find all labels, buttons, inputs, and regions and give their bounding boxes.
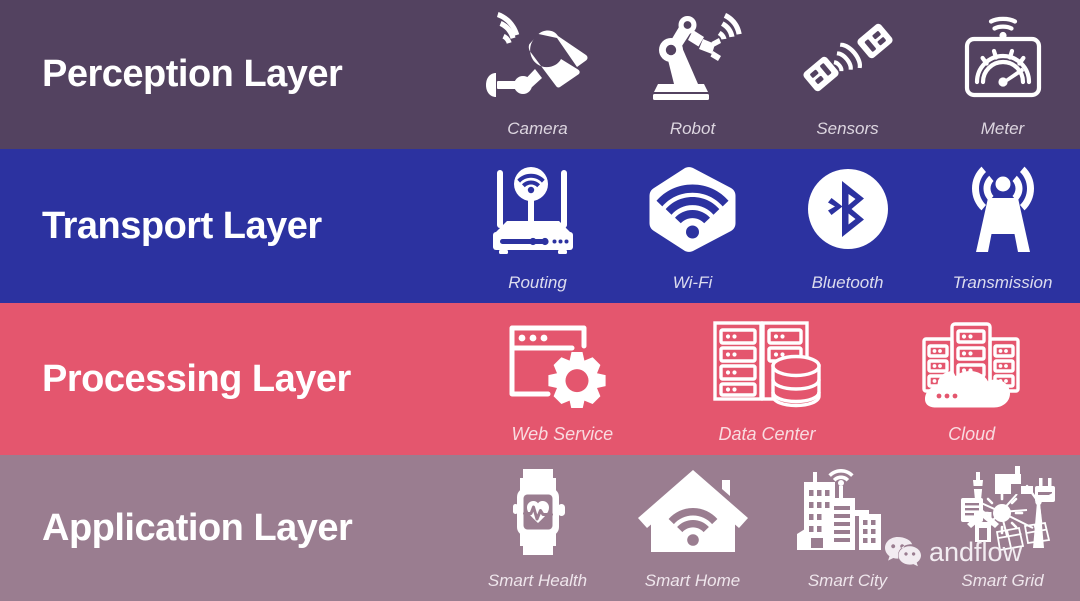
item-smart-city[interactable]: Smart City [770,455,925,601]
item-label: Camera [507,120,567,139]
smartwatch-heart-icon [486,455,590,568]
watermark-text: andflow [929,539,1022,566]
item-transmission[interactable]: Transmission [925,149,1080,303]
sensors-icon [796,0,900,116]
layer-items-application: Smart Health Smart Home [460,455,1080,601]
robot-arm-icon [641,0,745,116]
item-camera[interactable]: Camera [460,0,615,149]
layer-application: Application Layer [0,455,1080,601]
layer-title-processing: Processing Layer [0,303,460,455]
iot-architecture-diagram: Perception Layer [0,0,1080,601]
layer-title-application: Application Layer [0,455,460,601]
cloud-server-icon [916,303,1028,421]
item-robot[interactable]: Robot [615,0,770,149]
item-label: Transmission [953,274,1053,293]
item-label: Web Service [511,425,613,445]
item-cloud[interactable]: Cloud [879,303,1065,455]
server-database-icon [709,303,825,421]
meter-gauge-icon [951,0,1055,116]
cctv-camera-icon [482,0,594,116]
item-meter[interactable]: Meter [925,0,1080,149]
item-data-center[interactable]: Data Center [674,303,860,455]
item-label: Cloud [948,425,995,445]
bluetooth-icon [796,149,900,270]
item-label: Smart Home [645,572,740,591]
item-label: Data Center [718,425,815,445]
item-label: Routing [508,274,567,293]
layer-title-perception: Perception Layer [0,0,460,149]
item-label: Robot [670,120,715,139]
browser-gear-icon [502,303,622,421]
item-label: Sensors [816,120,878,139]
item-bluetooth[interactable]: Bluetooth [770,149,925,303]
layer-items-processing: Web Service [460,303,1080,455]
item-sensors[interactable]: Sensors [770,0,925,149]
layer-title-transport: Transport Layer [0,149,460,303]
item-label: Bluetooth [812,274,884,293]
item-label: Smart Health [488,572,587,591]
item-label: Wi-Fi [673,274,713,293]
wifi-hexagon-icon [641,149,745,270]
layer-perception: Perception Layer [0,0,1080,149]
item-wifi[interactable]: Wi-Fi [615,149,770,303]
layer-processing: Processing Layer [0,303,1080,455]
layer-items-transport: Routing Wi-Fi [460,149,1080,303]
layer-items-perception: Camera [460,0,1080,149]
item-smart-health[interactable]: Smart Health [460,455,615,601]
layer-transport: Transport Layer [0,149,1080,303]
wechat-icon [884,536,922,568]
item-label: Smart Grid [961,572,1043,591]
house-wifi-icon [635,455,751,568]
item-smart-grid[interactable]: Smart Grid [925,455,1080,601]
item-routing[interactable]: Routing [460,149,615,303]
item-web-service[interactable]: Web Service [469,303,655,455]
item-label: Meter [981,120,1024,139]
watermark: andflow [884,536,1022,568]
item-smart-home[interactable]: Smart Home [615,455,770,601]
item-label: Smart City [808,572,887,591]
router-icon [483,149,593,270]
radio-tower-icon [948,149,1058,270]
